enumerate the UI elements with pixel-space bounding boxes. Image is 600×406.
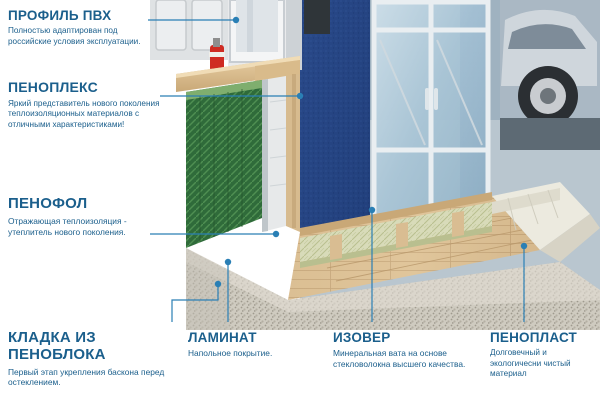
label-pvh-desc: Полностью адаптирован под российские усл… [8, 26, 158, 47]
label-penofol-title: ПЕНОФОЛ [8, 196, 163, 213]
label-laminat-desc: Напольное покрытие. [188, 348, 318, 359]
label-penofol: ПЕНОФОЛ Отражающая теплоизоляция - утепл… [8, 196, 163, 237]
label-penoplex-desc: Яркий представитель нового поколения теп… [8, 99, 160, 131]
label-izover-desc: Минеральная вата на основе стекловолокна… [333, 348, 483, 370]
label-izover-title: ИЗОВЕР [333, 330, 483, 345]
label-izover: ИЗОВЕР Минеральная вата на основе стекло… [333, 330, 483, 370]
label-pvh-title: ПРОФИЛЬ ПВХ [8, 8, 158, 23]
label-penoplast: ПЕНОПЛАСТ Долговечный и экологичесни чис… [490, 330, 600, 380]
diagram-canvas: ПРОФИЛЬ ПВХ Полностью адаптирован под ро… [0, 0, 600, 406]
label-penoplex: ПЕНОПЛЕКС Яркий представитель нового пок… [8, 80, 160, 130]
label-penoplex-title: ПЕНОПЛЕКС [8, 80, 160, 96]
label-pvh-profile: ПРОФИЛЬ ПВХ Полностью адаптирован под ро… [8, 8, 158, 47]
label-penofol-desc: Отражающая теплоизоляция - утеплитель но… [8, 216, 163, 238]
label-laminat-title: ЛАМИНАТ [188, 330, 318, 345]
penofol-foil-layer [262, 74, 300, 232]
label-kladka-title: КЛАДКА ИЗ ПЕНОБЛОКА [8, 330, 173, 364]
label-kladka-penoblok: КЛАДКА ИЗ ПЕНОБЛОКА Первый этап укреплен… [8, 330, 173, 388]
label-laminat: ЛАМИНАТ Напольное покрытие. [188, 330, 318, 359]
label-kladka-desc: Первый этап укрепления баскона перед ост… [8, 367, 173, 389]
label-penoplast-desc: Долговечный и экологичесни чистый матери… [490, 348, 600, 380]
label-penoplast-title: ПЕНОПЛАСТ [490, 330, 600, 345]
car-behind-glass [500, 0, 600, 150]
